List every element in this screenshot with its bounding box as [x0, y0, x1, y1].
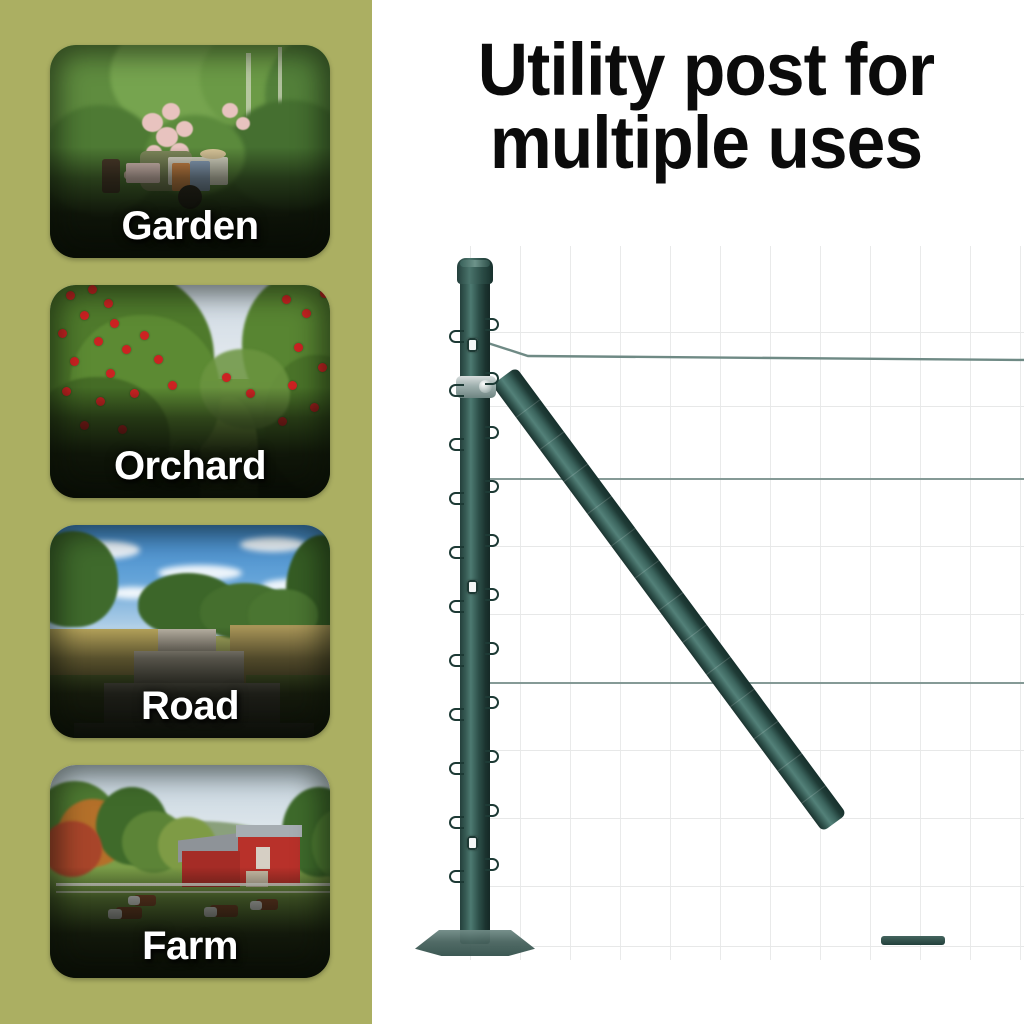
fixing-hole	[467, 338, 478, 352]
top-tension-wire	[466, 330, 1024, 370]
page-title: Utility post for multiple uses	[415, 34, 998, 179]
fixing-hole	[467, 836, 478, 850]
page-title-line-1: Utility post for	[415, 34, 998, 107]
mesh-horizontal-wire	[470, 946, 1024, 947]
use-case-card-road[interactable]: Road	[50, 525, 330, 738]
card-label: Garden	[50, 206, 330, 246]
infographic-canvas: Garden	[0, 0, 1024, 1024]
use-case-card-orchard[interactable]: Orchard	[50, 285, 330, 498]
page-title-line-2: multiple uses	[415, 107, 998, 180]
sidebar-panel: Garden	[0, 0, 372, 1024]
fixing-hole	[467, 580, 478, 594]
brace-foot-plate	[881, 936, 945, 945]
use-case-card-farm[interactable]: Farm	[50, 765, 330, 978]
utility-fence-post	[455, 258, 495, 946]
card-label: Road	[50, 686, 330, 726]
card-label: Farm	[50, 926, 330, 966]
card-label: Orchard	[50, 446, 330, 486]
use-case-card-garden[interactable]: Garden	[50, 45, 330, 258]
post-cap	[457, 258, 493, 284]
diagonal-brace-strut	[489, 376, 909, 942]
